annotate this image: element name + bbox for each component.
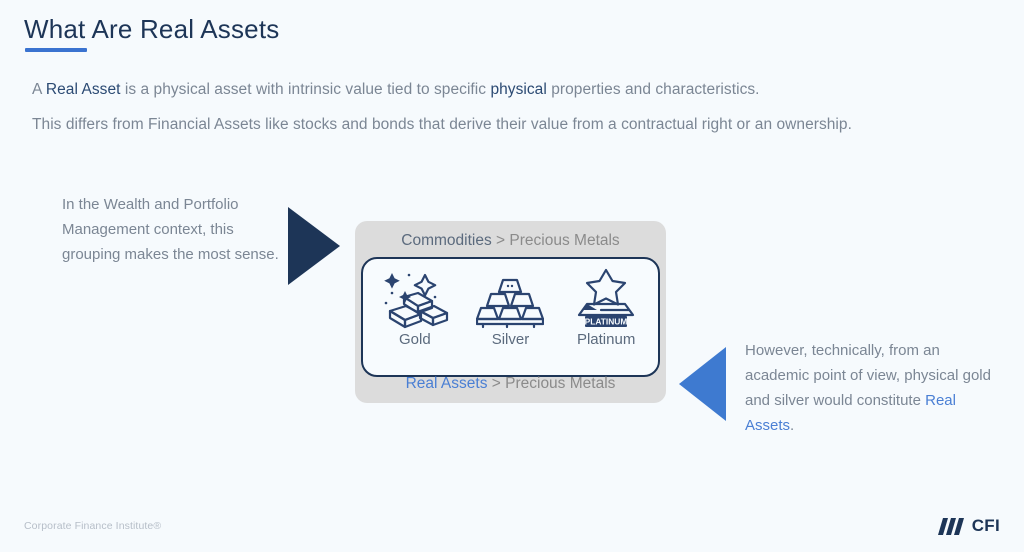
metal-label-platinum: Platinum bbox=[577, 331, 635, 348]
platinum-bar-icon: PLATINUM bbox=[571, 265, 641, 335]
left-annotation-text: In the Wealth and Portfolio Management c… bbox=[62, 192, 284, 267]
cfi-logo: CFI bbox=[937, 516, 1000, 536]
metal-item-platinum[interactable]: PLATINUM Platinum bbox=[560, 265, 652, 348]
metal-item-silver[interactable]: Silver bbox=[464, 265, 556, 348]
breadcrumb-bottom-secondary: Precious Metals bbox=[505, 375, 615, 392]
metals-inner-panel: Gold bbox=[361, 257, 660, 377]
cfi-logo-text: CFI bbox=[972, 516, 1000, 536]
metal-label-gold: Gold bbox=[399, 331, 431, 348]
silver-bars-icon bbox=[476, 265, 544, 335]
metal-label-silver: Silver bbox=[492, 331, 530, 348]
platinum-bar-text: PLATINUM bbox=[585, 317, 628, 327]
gold-bars-icon bbox=[378, 265, 452, 335]
intro-1-emphasis-physical: physical bbox=[490, 81, 546, 98]
title-underline-accent bbox=[25, 48, 87, 52]
breadcrumb-top-primary: Commodities bbox=[401, 232, 491, 249]
arrow-left-icon bbox=[679, 347, 726, 421]
breadcrumb-bottom-separator: > bbox=[487, 375, 505, 392]
intro-paragraph-2: This differs from Financial Assets like … bbox=[32, 116, 852, 134]
breadcrumb-bottom-primary: Real Assets bbox=[406, 375, 488, 392]
intro-1-pre: A bbox=[32, 81, 46, 98]
metal-item-gold[interactable]: Gold bbox=[369, 265, 461, 348]
right-annotation-text: However, technically, from an academic p… bbox=[745, 338, 997, 438]
cfi-logo-mark bbox=[937, 517, 967, 536]
right-annotation-post: . bbox=[790, 417, 794, 434]
intro-paragraph-1: A Real Asset is a physical asset with in… bbox=[32, 81, 760, 99]
intro-1-post: properties and characteristics. bbox=[547, 81, 760, 98]
intro-1-mid: is a physical asset with intrinsic value… bbox=[121, 81, 491, 98]
breadcrumb-top-separator: > bbox=[492, 232, 510, 249]
intro-1-emphasis-real-asset: Real Asset bbox=[46, 81, 121, 98]
breadcrumb-commodities: Commodities > Precious Metals bbox=[355, 232, 666, 250]
breadcrumb-top-secondary: Precious Metals bbox=[509, 232, 619, 249]
precious-metals-card: Commodities > Precious Metals bbox=[355, 221, 666, 403]
arrow-right-icon bbox=[288, 207, 340, 285]
footer-copyright: Corporate Finance Institute® bbox=[24, 520, 161, 532]
breadcrumb-real-assets: Real Assets > Precious Metals bbox=[355, 375, 666, 393]
page-title: What Are Real Assets bbox=[24, 14, 279, 45]
